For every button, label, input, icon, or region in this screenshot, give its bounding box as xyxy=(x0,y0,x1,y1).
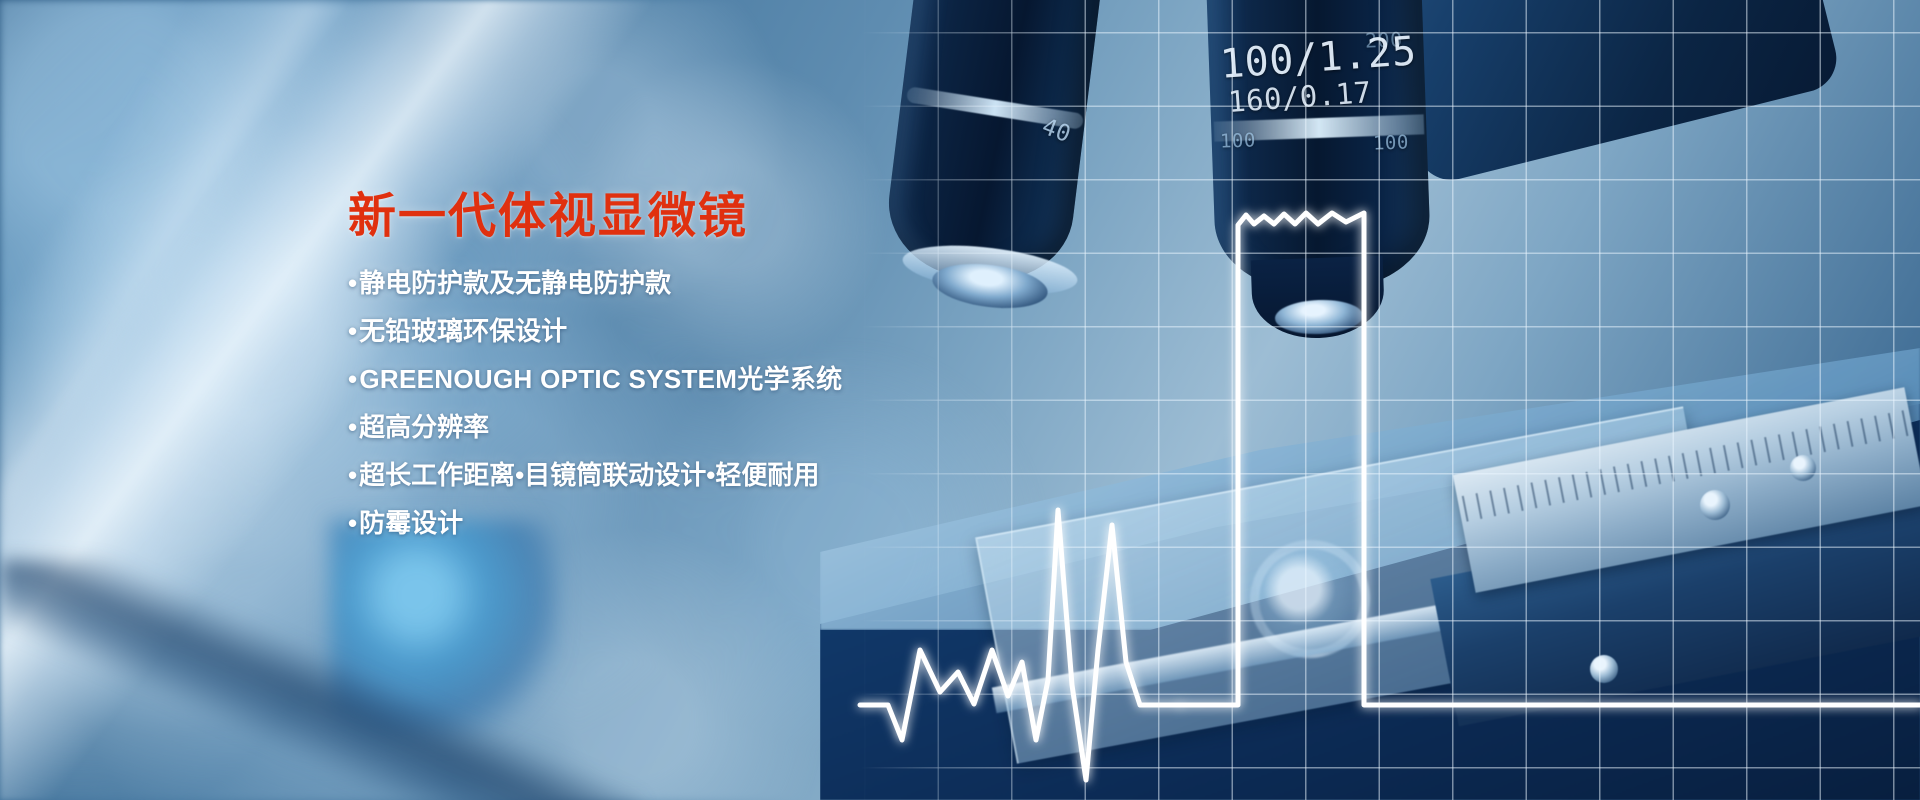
feature-label: GREENOUGH OPTIC SYSTEM光学系统 xyxy=(359,364,842,394)
feature-label: 无铅玻璃环保设计 xyxy=(359,316,567,346)
feature-item: •无铅玻璃环保设计 xyxy=(348,318,868,344)
feature-label: 超长工作距离•目镜筒联动设计•轻便耐用 xyxy=(359,460,819,490)
bullet-icon: • xyxy=(348,364,357,394)
bullet-icon: • xyxy=(348,412,357,442)
bullet-icon: • xyxy=(348,460,357,490)
bullet-icon: • xyxy=(348,316,357,346)
feature-item: •防霉设计 xyxy=(348,510,868,536)
bullet-icon: • xyxy=(348,268,357,298)
product-banner: 200 100/1.25 160/0.17 40 100 100 新一代体视显微… xyxy=(0,0,1920,800)
square-pulse-path xyxy=(1180,213,1920,705)
feature-label: 静电防护款及无静电防护款 xyxy=(359,268,671,298)
banner-copy: 新一代体视显微镜 •静电防护款及无静电防护款•无铅玻璃环保设计•GREENOUG… xyxy=(348,190,868,558)
ecg-trace-path xyxy=(860,510,1180,780)
feature-item: •GREENOUGH OPTIC SYSTEM光学系统 xyxy=(348,366,868,392)
background-instrument-arm xyxy=(0,560,640,800)
feature-label: 超高分辨率 xyxy=(359,412,489,442)
feature-item: •超高分辨率 xyxy=(348,414,868,440)
signal-waveform-overlay xyxy=(840,180,1920,800)
feature-list: •静电防护款及无静电防护款•无铅玻璃环保设计•GREENOUGH OPTIC S… xyxy=(348,270,868,536)
feature-item: •静电防护款及无静电防护款 xyxy=(348,270,868,296)
bullet-icon: • xyxy=(348,508,357,538)
page-title: 新一代体视显微镜 xyxy=(348,190,868,244)
feature-item: •超长工作距离•目镜筒联动设计•轻便耐用 xyxy=(348,462,868,488)
feature-label: 防霉设计 xyxy=(359,508,463,538)
